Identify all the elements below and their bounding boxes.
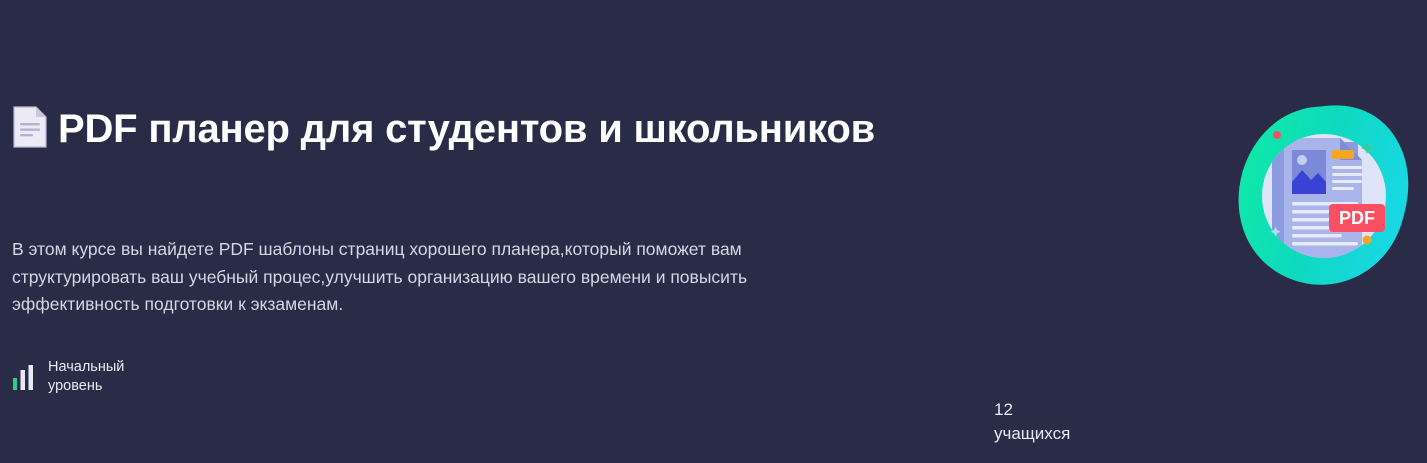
orange-dot bbox=[1363, 236, 1372, 245]
pdf-document-illustration: PDF bbox=[1232, 100, 1416, 290]
bar-chart-level-icon bbox=[12, 364, 36, 390]
course-description: В этом курсе вы найдете PDF шаблоны стра… bbox=[12, 236, 872, 319]
hero-content: PDF планер для студентов и школьников В … bbox=[12, 0, 892, 463]
level-badge: Начальный уровень bbox=[12, 358, 124, 396]
level-label: Начальный уровень bbox=[48, 358, 124, 396]
page-title: PDF планер для студентов и школьников bbox=[12, 100, 892, 158]
page-title-text: PDF планер для студентов и школьников bbox=[58, 107, 875, 151]
pink-dot bbox=[1273, 131, 1281, 139]
svg-text:PDF: PDF bbox=[1339, 208, 1375, 228]
students-count: 12 учащихся bbox=[994, 398, 1070, 446]
page-facing-up-icon bbox=[12, 105, 48, 149]
pdf-badge: PDF bbox=[1329, 204, 1385, 232]
course-hero-banner: PDF планер для студентов и школьников В … bbox=[0, 0, 1427, 463]
